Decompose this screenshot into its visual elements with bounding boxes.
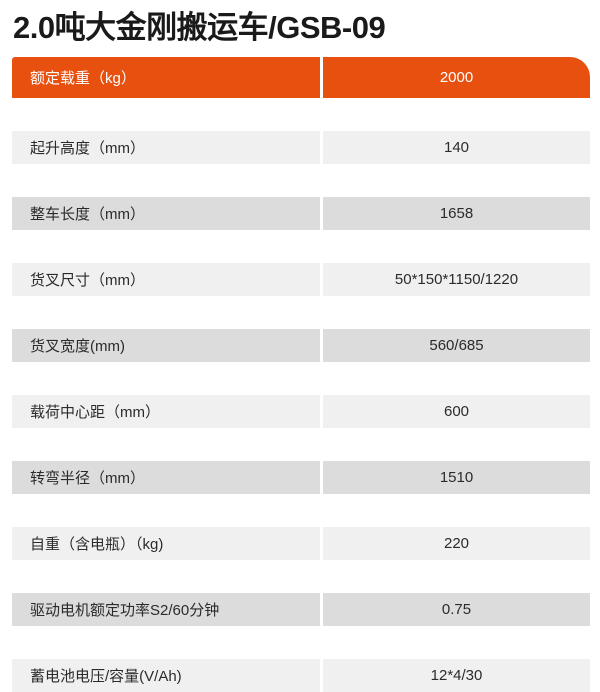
spec-value: 140 [323, 131, 590, 164]
row-separator-cell [12, 296, 590, 329]
spec-value: 560/685 [323, 329, 590, 362]
specification-table: 额定载重（kg） 2000 起升高度（mm） 140 整车长度（mm） 1658… [12, 57, 590, 692]
spec-label: 货叉宽度(mm) [12, 329, 320, 362]
spec-value: 50*150*1150/1220 [323, 263, 590, 296]
row-separator-cell [12, 362, 590, 395]
table-row: 货叉宽度(mm) 560/685 [12, 329, 590, 362]
table-row: 蓄电池电压/容量(V/Ah) 12*4/30 [12, 659, 590, 692]
row-separator-cell [12, 428, 590, 461]
spec-label: 货叉尺寸（mm） [12, 263, 320, 296]
spec-value: 0.75 [323, 593, 590, 626]
spec-table-header-row: 额定载重（kg） 2000 [12, 57, 590, 98]
spec-label: 载荷中心距（mm） [12, 395, 320, 428]
spec-value: 220 [323, 527, 590, 560]
row-separator-cell [12, 230, 590, 263]
spec-label: 起升高度（mm） [12, 131, 320, 164]
table-row: 自重（含电瓶）（kg) 220 [12, 527, 590, 560]
spec-label: 驱动电机额定功率S2/60分钟 [12, 593, 320, 626]
product-spec-page: 2.0吨大金刚搬运车/GSB-09 额定载重（kg） 2000 起升高度（mm）… [0, 0, 600, 432]
row-separator [12, 98, 590, 131]
row-separator [12, 230, 590, 263]
row-separator [12, 164, 590, 197]
spec-label: 蓄电池电压/容量(V/Ah) [12, 659, 320, 692]
spec-value: 600 [323, 395, 590, 428]
page-title: 2.0吨大金刚搬运车/GSB-09 [13, 8, 385, 48]
table-row: 整车长度（mm） 1658 [12, 197, 590, 230]
spec-label: 转弯半径（mm） [12, 461, 320, 494]
row-separator-cell [12, 626, 590, 659]
spec-value: 1510 [323, 461, 590, 494]
table-row: 货叉尺寸（mm） 50*150*1150/1220 [12, 263, 590, 296]
row-separator [12, 428, 590, 461]
row-separator [12, 296, 590, 329]
table-row: 载荷中心距（mm） 600 [12, 395, 590, 428]
row-separator [12, 494, 590, 527]
spec-label: 整车长度（mm） [12, 197, 320, 230]
row-separator [12, 560, 590, 593]
spec-value: 1658 [323, 197, 590, 230]
row-separator-cell [12, 494, 590, 527]
row-separator-cell [12, 560, 590, 593]
table-row: 驱动电机额定功率S2/60分钟 0.75 [12, 593, 590, 626]
row-separator-cell [12, 164, 590, 197]
spec-header-value: 2000 [323, 57, 590, 98]
spec-value: 12*4/30 [323, 659, 590, 692]
spec-table-body: 额定载重（kg） 2000 起升高度（mm） 140 整车长度（mm） 1658… [12, 57, 590, 692]
table-row: 起升高度（mm） 140 [12, 131, 590, 164]
row-separator-cell [12, 98, 590, 131]
table-row: 转弯半径（mm） 1510 [12, 461, 590, 494]
row-separator [12, 626, 590, 659]
row-separator [12, 362, 590, 395]
spec-header-label: 额定载重（kg） [12, 57, 320, 98]
spec-label: 自重（含电瓶）（kg) [12, 527, 320, 560]
